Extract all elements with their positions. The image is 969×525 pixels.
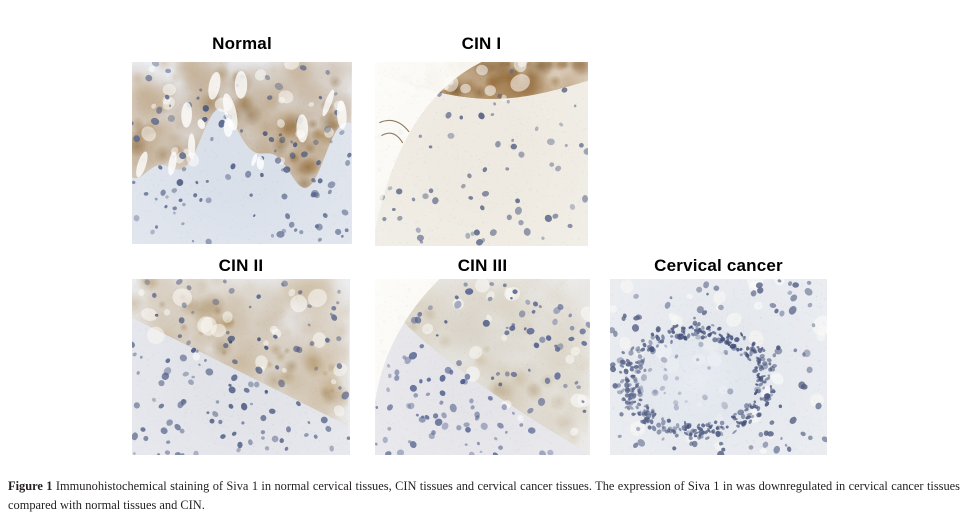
- panel-cin3: CIN III: [375, 256, 590, 455]
- micrograph-cin3: [375, 279, 590, 455]
- panel-title-cin3: CIN III: [375, 256, 590, 276]
- micrograph-canvas-cin1: [375, 62, 588, 246]
- micrograph-normal: [132, 62, 352, 244]
- figure-caption-text: Immunohistochemical staining of Siva 1 i…: [8, 479, 960, 512]
- figure-caption-label: Figure 1: [8, 479, 52, 493]
- panel-title-cin1: CIN I: [375, 34, 588, 54]
- panel-cin2: CIN II: [132, 256, 350, 455]
- micrograph-cin1: [375, 62, 588, 246]
- panel-cin1: CIN I: [375, 34, 588, 246]
- micrograph-canvas-cin2: [132, 279, 350, 455]
- micrograph-canvas-cin3: [375, 279, 590, 455]
- panel-normal: Normal: [132, 34, 352, 244]
- panel-cervical-cancer: Cervical cancer: [610, 256, 827, 455]
- micrograph-cervical-cancer: [610, 279, 827, 455]
- micrograph-cin2: [132, 279, 350, 455]
- panel-title-normal: Normal: [132, 34, 352, 54]
- panel-title-cervical-cancer: Cervical cancer: [610, 256, 827, 276]
- figure-container: NormalCIN ICIN IICIN IIICervical cancer …: [0, 0, 969, 525]
- micrograph-canvas-cervical-cancer: [610, 279, 827, 455]
- figure-caption: Figure 1 Immunohistochemical staining of…: [8, 477, 960, 515]
- micrograph-canvas-normal: [132, 62, 352, 244]
- panel-title-cin2: CIN II: [132, 256, 350, 276]
